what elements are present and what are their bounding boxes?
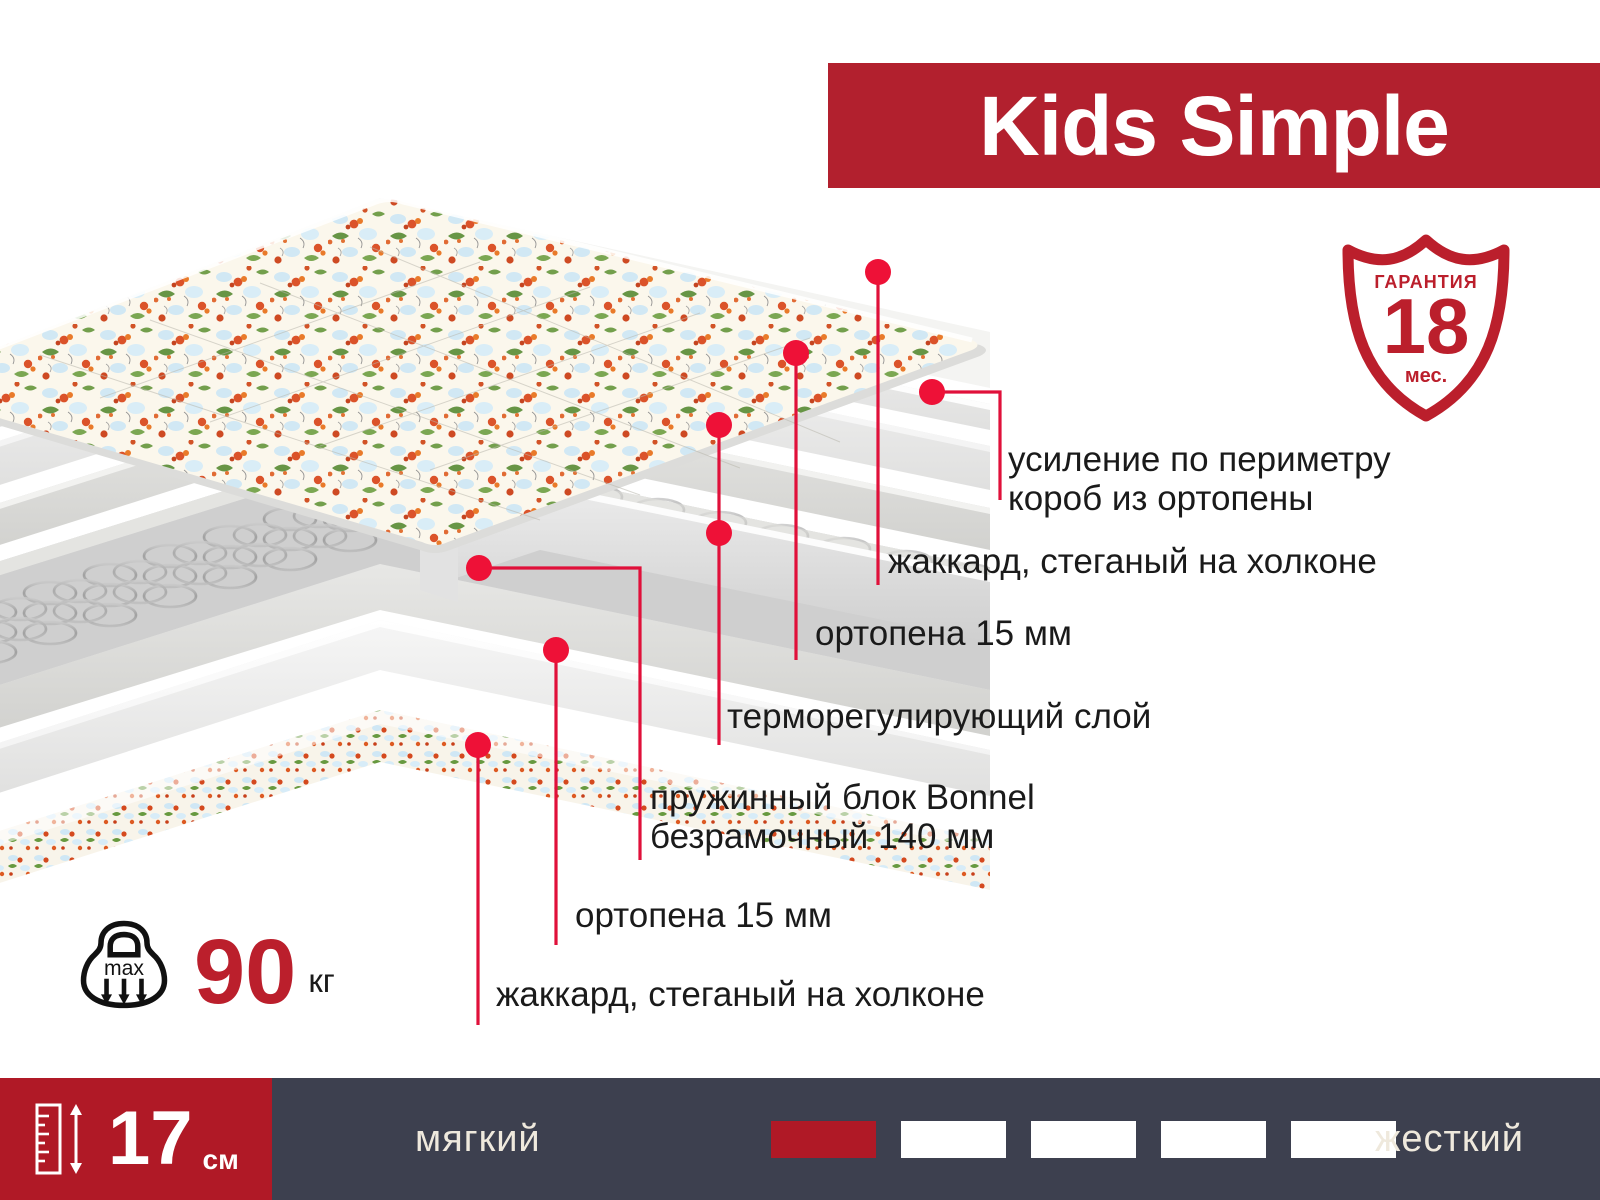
callout-thermo-layer: терморегулирующий слой (727, 697, 1151, 736)
kettlebell-icon: max (78, 918, 170, 1010)
height-unit: см (203, 1144, 239, 1176)
firmness-scale-block: мягкий жесткий (272, 1078, 1600, 1200)
warranty-badge: ГАРАНТИЯ 18 мес. (1338, 232, 1514, 422)
callout-jacquard-bottom: жаккард, стеганый на холконе (496, 975, 985, 1014)
product-title-banner: Kids Simple (828, 63, 1600, 188)
max-weight-value: 90 (194, 935, 296, 1010)
svg-text:max: max (104, 957, 144, 980)
max-weight-unit: кг (308, 962, 334, 1000)
page-title: Kids Simple (979, 84, 1449, 168)
firmness-scale[interactable] (771, 1121, 1396, 1158)
height-block: 17 см (0, 1078, 272, 1200)
callout-jacquard-top: жаккард, стеганый на холконе (888, 542, 1377, 581)
max-weight-block: max 90 кг (78, 918, 335, 1010)
warranty-unit: мес. (1338, 365, 1514, 388)
warranty-value: 18 (1338, 287, 1514, 365)
callout-ortopena-top: ортопена 15 мм (815, 614, 1072, 653)
firmness-segment-2[interactable] (901, 1121, 1006, 1158)
callout-bonnel-block: пружинный блок Bonnel безрамочный 140 мм (650, 778, 1035, 856)
callout-ortopena-bottom: ортопена 15 мм (575, 896, 832, 935)
height-value: 17 (108, 1101, 193, 1177)
firmness-segment-1[interactable] (771, 1121, 876, 1158)
firmness-segment-4[interactable] (1161, 1121, 1266, 1158)
callout-perimeter: усиление по периметру короб из ортопены (1008, 440, 1391, 518)
bottom-info-bar: 17 см мягкий жесткий (0, 1078, 1600, 1200)
ruler-icon (34, 1102, 88, 1176)
firmness-hard-label: жесткий (1375, 1118, 1524, 1161)
firmness-segment-3[interactable] (1031, 1121, 1136, 1158)
poster-canvas: Kids Simple ГАРАНТИЯ 18 мес. (0, 0, 1600, 1200)
firmness-soft-label: мягкий (415, 1118, 541, 1161)
